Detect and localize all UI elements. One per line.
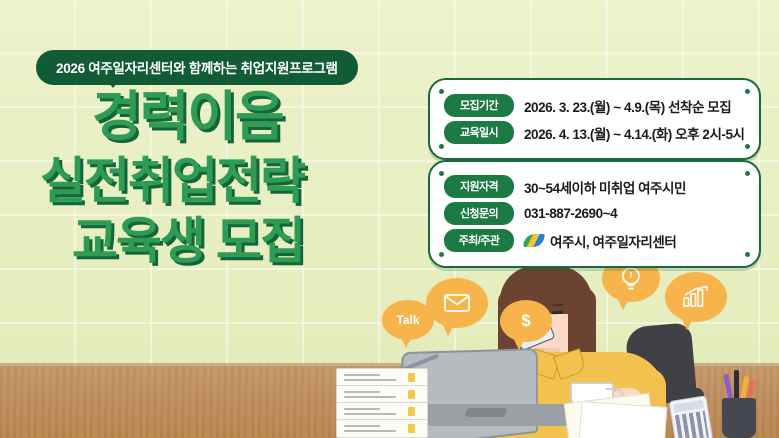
corner-dot bbox=[745, 171, 750, 176]
badge-contact: 신청문의 bbox=[444, 202, 514, 225]
details-row-contact: 신청문의 031-887-2690~4 bbox=[444, 202, 743, 225]
stack-sheet bbox=[336, 419, 428, 438]
schedule-row-session: 교육일시 2026. 4. 13.(월) ~ 4.14.(화) 오후 2시-5시 bbox=[444, 121, 743, 144]
poster-canvas: 2026 여주일자리센터와 함께하는 취업지원프로그램 경력이음 실전취업전략 … bbox=[0, 0, 779, 438]
dollar-icon: $ bbox=[521, 311, 530, 331]
laptop-trackpad bbox=[465, 408, 508, 417]
period-value: 2026. 3. 23.(월) ~ 4.9.(목) 선착순 모집 bbox=[524, 96, 731, 116]
loose-paper-front bbox=[579, 401, 668, 438]
yeoju-city-logo-icon bbox=[523, 234, 545, 247]
corner-dot bbox=[745, 144, 750, 149]
session-value: 2026. 4. 13.(월) ~ 4.14.(화) 오후 2시-5시 bbox=[524, 123, 745, 143]
corner-dot bbox=[439, 89, 444, 94]
corner-dot bbox=[745, 89, 750, 94]
badge-eligibility: 지원자격 bbox=[444, 175, 514, 198]
badge-session: 교육일시 bbox=[444, 121, 514, 144]
chart-bubble bbox=[665, 272, 727, 322]
lightbulb-icon bbox=[619, 266, 643, 292]
corner-dot bbox=[745, 252, 750, 257]
envelope-icon bbox=[444, 294, 470, 312]
mail-bubble bbox=[426, 278, 488, 328]
corner-dot bbox=[439, 171, 444, 176]
talk-bubble-label: Talk bbox=[396, 313, 419, 327]
details-row-organizer: 주최/주관 여주시, 여주일자리센터 bbox=[444, 229, 743, 252]
contact-phone-value: 031-887-2690~4 bbox=[524, 206, 617, 221]
schedule-card: 모집기간 2026. 3. 23.(월) ~ 4.9.(목) 선착순 모집 교육… bbox=[428, 78, 761, 160]
badge-organizer: 주최/주관 bbox=[444, 229, 514, 252]
schedule-row-period: 모집기간 2026. 3. 23.(월) ~ 4.9.(목) 선착순 모집 bbox=[444, 94, 743, 117]
corner-dot bbox=[439, 144, 444, 149]
eligibility-value: 30~54세이하 미취업 여주시민 bbox=[524, 177, 686, 197]
badge-period: 모집기간 bbox=[444, 94, 514, 117]
organizer-value-wrap: 여주시, 여주일자리센터 bbox=[524, 231, 676, 251]
organizer-value: 여주시, 여주일자리센터 bbox=[550, 231, 676, 251]
money-bubble: $ bbox=[500, 300, 552, 342]
details-row-eligibility: 지원자격 30~54세이하 미취업 여주시민 bbox=[444, 175, 743, 198]
calculator-keys bbox=[675, 411, 709, 438]
corner-dot bbox=[439, 252, 444, 257]
bar-chart-icon bbox=[682, 286, 710, 308]
eyebrow-right bbox=[552, 304, 564, 306]
pen-holder bbox=[722, 398, 756, 438]
details-card: 지원자격 30~54세이하 미취업 여주시민 신청문의 031-887-2690… bbox=[428, 160, 761, 268]
paper-stack bbox=[336, 368, 428, 434]
calculator bbox=[669, 395, 714, 438]
eye-right bbox=[552, 311, 563, 315]
